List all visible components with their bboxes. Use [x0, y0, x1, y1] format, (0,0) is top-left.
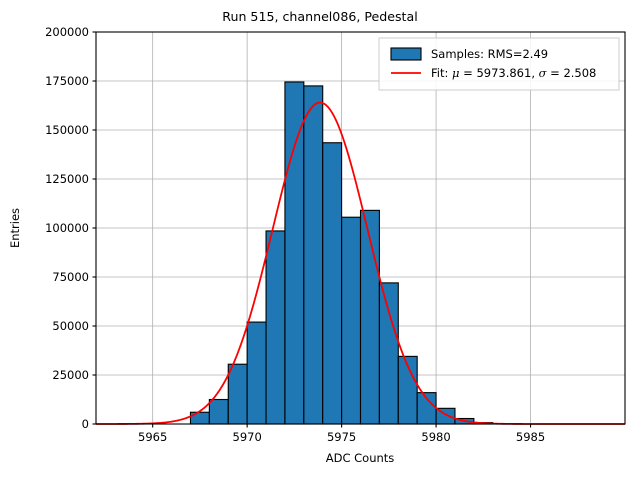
y-tick-label: 100000 — [45, 221, 89, 235]
legend-label-samples: Samples: RMS=2.49 — [431, 47, 548, 61]
histogram-bar — [266, 231, 285, 424]
x-tick-label: 5985 — [516, 430, 545, 444]
histogram-bar — [190, 412, 209, 424]
y-tick-label: 50000 — [52, 319, 89, 333]
y-axis-tick-labels: 0250005000075000100000125000150000175000… — [45, 25, 89, 431]
y-tick-label: 125000 — [45, 172, 89, 186]
x-axis-tick-labels: 59655970597559805985 — [138, 430, 545, 444]
legend-swatch-samples — [391, 48, 421, 60]
x-tick-label: 5975 — [327, 430, 356, 444]
x-tick-label: 5965 — [138, 430, 167, 444]
y-tick-label: 175000 — [45, 74, 89, 88]
legend-background — [379, 38, 619, 90]
y-tick-label: 0 — [82, 417, 89, 431]
x-axis-label: ADC Counts — [326, 451, 395, 465]
histogram-plot: 0250005000075000100000125000150000175000… — [0, 0, 640, 480]
histogram-bar — [304, 86, 323, 424]
y-tick-label: 25000 — [52, 368, 89, 382]
x-tick-label: 5980 — [421, 430, 450, 444]
x-tick-label: 5970 — [233, 430, 262, 444]
histogram-bar — [379, 283, 398, 424]
histogram-bar — [323, 143, 342, 424]
histogram-bar — [247, 322, 266, 424]
y-tick-label: 75000 — [52, 270, 89, 284]
legend-label-fit: Fit: μ = 5973.861, σ = 2.508 — [431, 66, 596, 80]
histogram-bar — [285, 82, 304, 424]
y-tick-label: 150000 — [45, 123, 89, 137]
chart-legend[interactable]: Samples: RMS=2.49 Fit: μ = 5973.861, σ =… — [379, 38, 619, 90]
y-tick-label: 200000 — [45, 25, 89, 39]
histogram-bar — [342, 217, 361, 424]
y-axis-label: Entries — [8, 208, 22, 248]
figure-canvas: Run 515, channel086, Pedestal 0250005000… — [0, 0, 640, 480]
histogram-bar — [209, 400, 228, 425]
histogram-bar — [228, 364, 247, 424]
